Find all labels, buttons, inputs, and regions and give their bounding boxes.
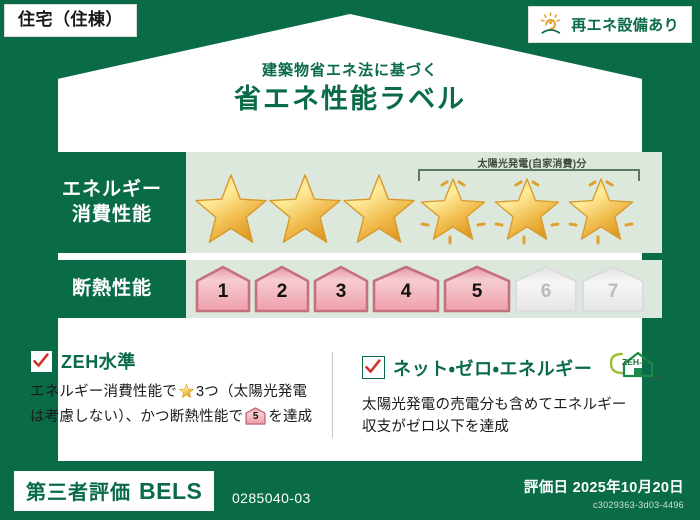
criterion-netzero-description: 太陽光発電の売電分も含めてエネルギー 収支がゼロ以下を達成 [362, 394, 666, 438]
energy-performance-stars-panel: 太陽光発電(自家消費)分 [186, 152, 662, 253]
renewable-equipment-badge: 再エネ設備あり [528, 6, 692, 43]
insulation-level-group: 1 2 3 [186, 260, 662, 318]
star-filled-3 [342, 169, 416, 249]
building-type-tab: 住宅（住棟） [4, 4, 137, 37]
insulation-performance-label: 断熱性能 [38, 260, 186, 318]
energy-label-line2: 消費性能 [72, 203, 152, 227]
star-solar-6 [564, 169, 638, 249]
energy-saving-performance-label: 住宅（住棟） 再エネ設備あり 建築物省エネ法に基づく 省エネ性能ラベル [0, 0, 700, 520]
criteria-section: ZEH水準 エネルギー消費性能で 3つ（太陽光発電 は考慮しない）、かつ断熱性能… [30, 348, 670, 438]
checkbox-checked-icon [30, 350, 53, 373]
evaluation-date-block: 評価日 2025年10月20日 c3029363-3d03-4496 [524, 479, 684, 510]
insulation-level-number: 5 [442, 282, 512, 301]
energy-label-line1: エネルギー [62, 178, 162, 202]
insulation-level-2: 2 [253, 265, 311, 313]
insulation-level-number: 3 [312, 282, 370, 301]
insulation-level-6: 6 [513, 265, 579, 313]
solar-sun-icon [538, 12, 564, 36]
star-filled-1 [194, 169, 268, 249]
inline-insulation-badge-number: 5 [245, 412, 266, 422]
label-title-block: 建築物省エネ法に基づく 省エネ性能ラベル [0, 62, 700, 117]
criterion-netzero-header: ネット・ゼロ・エネルギー ZEH-M (ZEH-M) [362, 348, 666, 387]
insulation-level-4: 4 [371, 265, 441, 313]
criterion-zeh-title: ZEH水準 [61, 348, 136, 374]
document-uid: c3029363-3d03-4496 [524, 500, 684, 510]
insulation-level-1: 1 [194, 265, 252, 313]
evaluation-date-value: 2025年10月20日 [573, 480, 684, 496]
criterion-netzero-line1: 太陽光発電の売電分も含めてエネルギー [362, 397, 627, 413]
inline-star-icon [178, 383, 195, 406]
criterion-zeh-text-part2: は考慮しない）、かつ断熱性能で [30, 409, 243, 425]
energy-performance-label: エネルギー 消費性能 [38, 152, 186, 253]
insulation-label-line1: 断熱性能 [72, 277, 152, 301]
checkbox-checked-icon [362, 356, 385, 379]
certificate-number: 0285040-03 [232, 490, 311, 506]
criterion-zeh-header: ZEH水準 [30, 348, 348, 374]
ratings-container: エネルギー 消費性能 太陽光発電(自家消費)分 [38, 152, 662, 325]
renewable-badge-label: 再エネ設備あり [571, 14, 679, 35]
criteria-divider [332, 352, 333, 438]
star-filled-2 [268, 169, 342, 249]
criterion-zeh-text-part1: エネルギー消費性能で [30, 384, 177, 400]
evaluation-date: 評価日 2025年10月20日 [524, 479, 684, 498]
title-subtitle: 建築物省エネ法に基づく [0, 62, 700, 80]
insulation-level-3: 3 [312, 265, 370, 313]
insulation-level-number: 7 [580, 282, 646, 301]
criterion-netzero-line2: 収支がゼロ以下を達成 [362, 419, 509, 435]
solar-annotation-bracket [418, 169, 640, 181]
criterion-net-zero-energy: ネット・ゼロ・エネルギー ZEH-M (ZEH-M) 太陽光発電の売電分も含めて… [348, 348, 666, 438]
insulation-level-number: 2 [253, 282, 311, 301]
insulation-levels-panel: 1 2 3 [186, 260, 662, 318]
star-solar-5 [490, 169, 564, 249]
insulation-performance-row: 断熱性能 [38, 260, 662, 318]
criterion-zeh-level: ZEH水準 エネルギー消費性能で 3つ（太陽光発電 は考慮しない）、かつ断熱性能… [30, 348, 348, 438]
bels-logo-text: BELS [139, 478, 202, 505]
zeh-m-logo-text: ZEH-M [622, 357, 649, 367]
star-solar-4 [416, 169, 490, 249]
third-party-evaluation-label: 第三者評価 [26, 476, 131, 505]
insulation-level-number: 1 [194, 282, 252, 301]
criterion-zeh-text-part3: を達成 [268, 409, 312, 425]
zeh-m-logo-icon: ZEH-M (ZEH-M) [602, 348, 664, 387]
evaluation-date-label: 評価日 [524, 480, 568, 496]
insulation-level-5: 5 [442, 265, 512, 313]
insulation-level-7: 7 [580, 265, 646, 313]
criterion-netzero-title: ネット・ゼロ・エネルギー [393, 355, 592, 381]
zeh-m-logo-caption: (ZEH-M) [652, 376, 664, 381]
inline-insulation-badge-icon: 5 [245, 407, 266, 425]
bels-certification-badge: 第三者評価 BELS [14, 471, 214, 511]
insulation-level-number: 6 [513, 282, 579, 301]
solar-annotation-text: 太陽光発電(自家消費)分 [418, 155, 646, 170]
page-title: 省エネ性能ラベル [0, 83, 700, 117]
building-type-label: 住宅（住棟） [18, 10, 123, 29]
criterion-zeh-text-star: 3つ（太陽光発電 [196, 384, 307, 400]
energy-performance-row: エネルギー 消費性能 太陽光発電(自家消費)分 [38, 152, 662, 253]
insulation-level-number: 4 [371, 282, 441, 301]
criterion-zeh-description: エネルギー消費性能で 3つ（太陽光発電 は考慮しない）、かつ断熱性能で 5 を達… [30, 381, 348, 428]
